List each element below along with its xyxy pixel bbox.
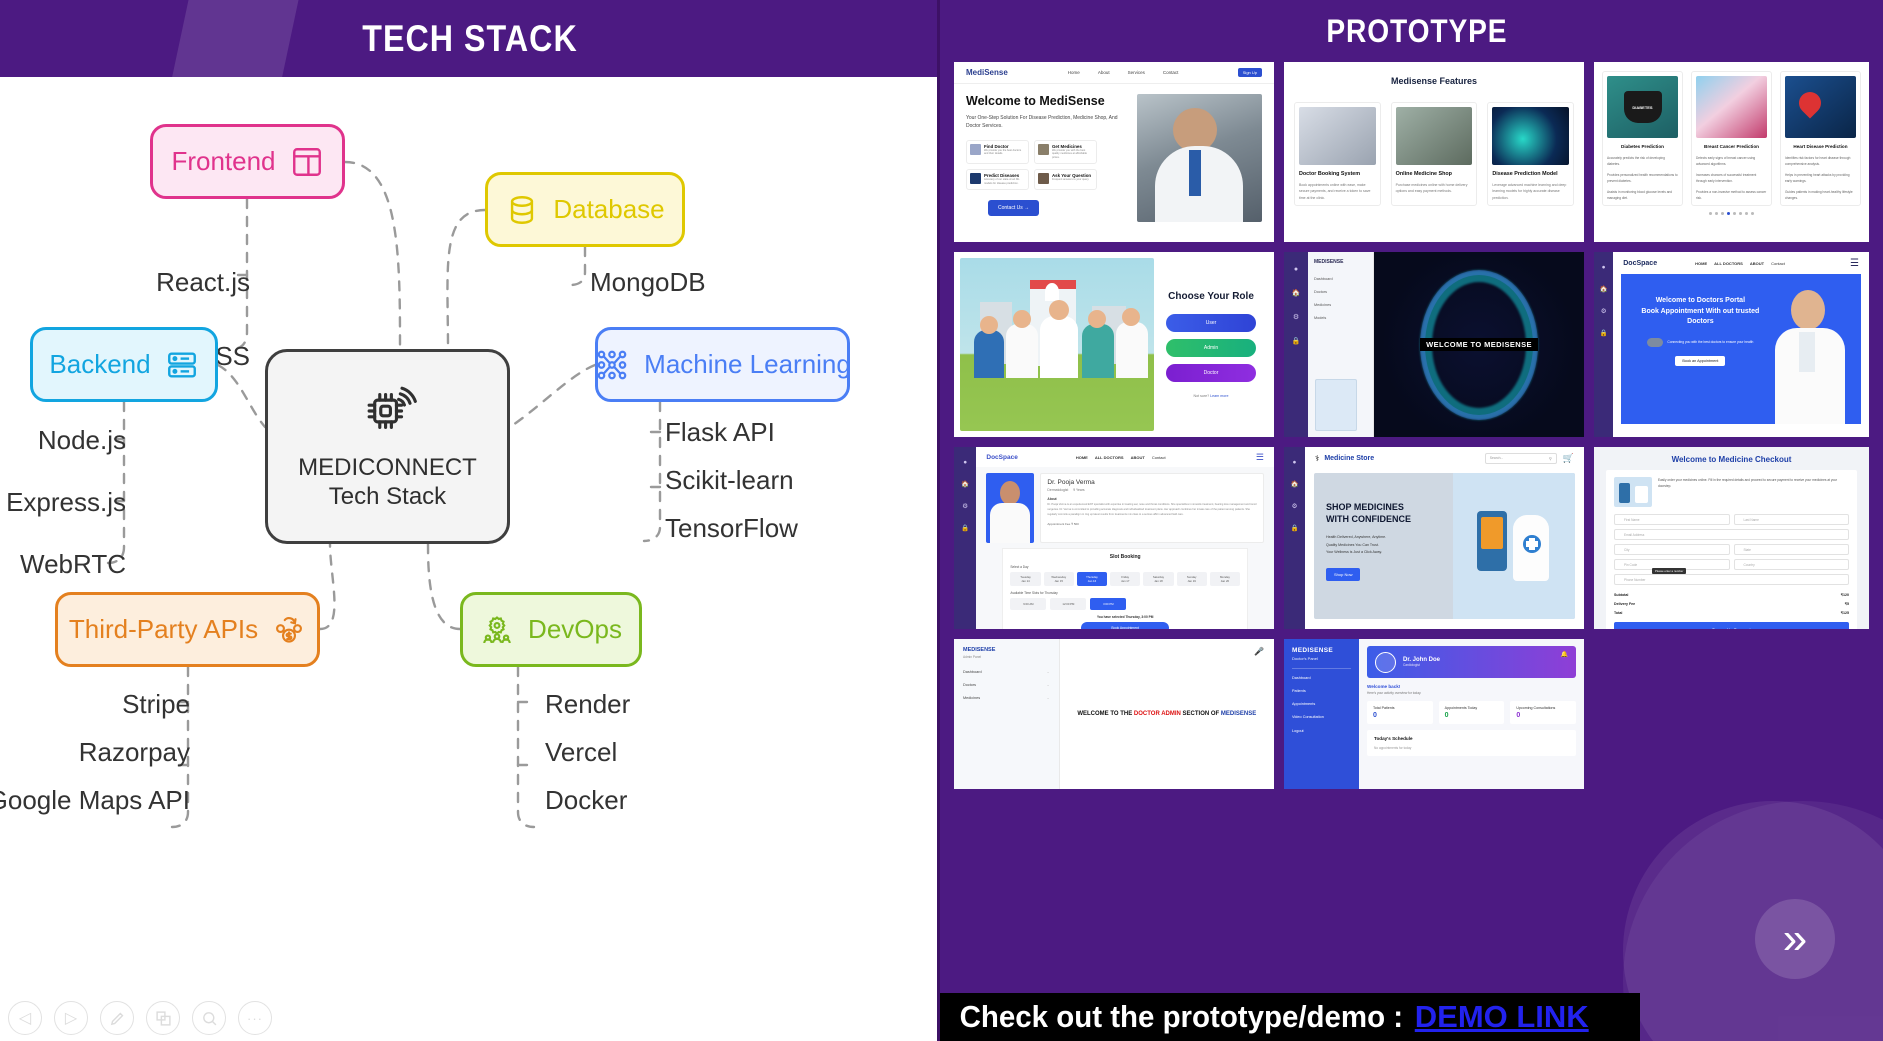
store-hero: SHOP MEDICINES WITH CONFIDENCE Health De… (1314, 473, 1575, 619)
layers-icon[interactable] (146, 1001, 180, 1035)
feature-card[interactable]: Doctor Booking System Book appointments … (1294, 102, 1381, 206)
store-bullet: Health Delivered, Anywhere, Anytime. (1326, 534, 1453, 542)
profile-doctor-name: Dr. Pooja Verma (1047, 479, 1257, 486)
doctor-panel-welcome: Welcome back! (1367, 684, 1576, 689)
admin-banner-suffix: MEDISENSE (1221, 711, 1256, 717)
feature-card-title: Online Medicine Shop (1396, 171, 1473, 177)
page-title: TECH STACK (61, 0, 879, 77)
admin-brand: MEDISENSE (963, 647, 1050, 653)
docspace-hero-line3: Doctors (1631, 317, 1769, 328)
docspace-doctor-image (1769, 284, 1855, 424)
doctor-panel-welcome-sub: Here's your activity overview for today. (1367, 691, 1576, 695)
slot-selector[interactable]: 9:00 AM 12:00 PM 3:00 PM (1010, 598, 1240, 610)
feature-card-image (1492, 107, 1569, 165)
leaf-tensorflow: TensorFlow (665, 513, 798, 544)
prediction-bullet: Increases chances of successful treatmen… (1696, 172, 1767, 185)
home-icon[interactable]: 🏠 (961, 480, 969, 488)
welcome-banner-text: WELCOME TO MEDISENSE (1420, 338, 1538, 351)
doctor-header-card: Dr. John Doe Cardiologist 🔔 (1367, 646, 1576, 678)
admin-banner-mid: SECTION OF (1181, 711, 1221, 717)
more-glyph: ··· (247, 1011, 263, 1026)
node-machine-learning-label: Machine Learning (644, 349, 851, 380)
prototype-title: PROTOTYPE (1326, 13, 1507, 50)
prediction-card-image (1696, 76, 1767, 138)
lock-icon[interactable]: 🔒 (1292, 337, 1301, 345)
prediction-card-image (1785, 76, 1856, 138)
shot-checkout[interactable]: Welcome to Medicine Checkout Easily orde… (1594, 447, 1869, 629)
country-field[interactable]: Country (1734, 559, 1850, 570)
docspace-hero-line2: Book Appointment With out trusted (1631, 307, 1769, 318)
summary-row: Total ₹125 (1614, 611, 1849, 615)
prediction-bullet: Guides patients in making heart-healthy … (1785, 189, 1856, 202)
landing-card[interactable]: Find Doctor We provide you the best doct… (966, 140, 1029, 165)
node-third-party-apis-label: Third-Party APIs (69, 614, 258, 645)
prediction-image-caption: DIABETES (1632, 105, 1652, 110)
doctor-panel-menu-video-consultation[interactable]: Video Consultation (1292, 715, 1351, 720)
chip-icon (359, 382, 417, 445)
node-backend[interactable]: Backend (30, 327, 218, 402)
store-bullet: Quality Medicines You Can Trust. (1326, 542, 1453, 550)
store-title-line1: SHOP MEDICINES (1326, 501, 1453, 513)
day-option[interactable]: Monday Jan 20 (1210, 572, 1240, 586)
admin-subtitle: Admin Panel (963, 655, 1050, 659)
landing-card-icon (970, 173, 981, 184)
stat-value: 0 (1373, 712, 1427, 719)
search-placeholder: Search... (1490, 456, 1504, 460)
docspace-hero: Welcome to Doctors Portal Book Appointme… (1621, 274, 1861, 424)
landing-nav-home[interactable]: Home (1068, 70, 1080, 75)
tech-stack-diagram: Frontend React.js Tailwind CSS Database (0, 77, 940, 977)
admin-sidebar: MEDISENSE Admin Panel Dashboard ⌄ Doctor… (954, 639, 1060, 789)
shot-doctor-panel[interactable]: MEDISENSE Doctor's Panel Dashboard Patie… (1284, 639, 1584, 789)
demo-link-bar: Check out the prototype/demo : DEMO LINK (940, 993, 1640, 1041)
summary-row: Delivery Fee ₹5 (1614, 602, 1849, 606)
leaf-razorpay: Razorpay (79, 737, 190, 768)
day-option-selected[interactable]: Thursday Jan 16 (1077, 572, 1107, 586)
node-devops[interactable]: DevOps (460, 592, 642, 667)
carousel-dots[interactable] (1602, 212, 1861, 215)
hamburger-menu-icon[interactable]: ☰ (1256, 452, 1264, 463)
shot-doctor-profile[interactable]: ● 🏠 ⚙ 🔒 DocSpace HOME ALL DOCTORS (954, 447, 1274, 629)
phone-validation-tooltip: Please enter a number (1652, 568, 1686, 574)
welcome-brand: MEDISENSE (1314, 259, 1367, 265)
slot-selection-note: You have selected Thursday, 3:00 PM (1010, 615, 1240, 619)
lock-icon[interactable]: 🔒 (1290, 524, 1298, 532)
user-icon[interactable]: ● (1293, 459, 1297, 466)
profile-specialty: Dermatologist (1047, 488, 1068, 492)
payment-exchange-icon (272, 613, 306, 647)
welcome-menu-doctors[interactable]: Doctors (1314, 290, 1367, 294)
day-option[interactable]: Sunday Jan 19 (1177, 572, 1207, 586)
shot-medicine-store[interactable]: ● 🏠 ⚙ 🔒 ⚕ Medicine Store Se (1284, 447, 1584, 629)
stat-card: Appointments Today 0 (1439, 701, 1505, 724)
play-glyph: ▷ (65, 1008, 77, 1028)
landing-hero-image (1137, 94, 1262, 222)
leaf-render: Render (545, 689, 630, 720)
last-name-field[interactable]: Last Name (1734, 514, 1850, 525)
checkout-intro: Easily order your medicines online. Fill… (1658, 477, 1849, 507)
landing-card[interactable]: Ask Your Question Frequent answers to yo… (1034, 169, 1097, 190)
prototype-row-1: MediSense Home About Services Contact Si… (954, 62, 1879, 242)
prototype-row-3: ● 🏠 ⚙ 🔒 DocSpace HOME ALL DOCTORS (954, 447, 1879, 629)
state-field[interactable]: State (1734, 544, 1850, 555)
center-node-title: MEDICONNECT (298, 453, 477, 482)
admin-main: 🎤 WELCOME TO THE DOCTOR ADMIN SECTION OF… (1060, 639, 1274, 789)
welcome-menu-medicines[interactable]: Medicines (1314, 303, 1367, 307)
stat-value: 0 (1445, 712, 1499, 719)
doctor-panel-doctor-role: Cardiologist (1403, 663, 1440, 667)
slide-root: TECH STACK (0, 0, 1883, 1041)
checkout-title: Welcome to Medicine Checkout (1606, 455, 1857, 464)
profile-about-text: Dr. Pooja Verma is an experienced ENT sp… (1047, 503, 1257, 517)
chevron-down-icon: ⌄ (1047, 696, 1050, 700)
day-selector[interactable]: Tuesday Jan 14 Wednesday Jan 15 Thursday (1010, 572, 1240, 586)
slots-label: Available Time Slots for Thursday (1010, 591, 1240, 595)
day-option[interactable]: Saturday Jan 18 (1143, 572, 1173, 586)
welcome-sidebar-illustration (1315, 379, 1357, 431)
feature-card[interactable]: Disease Prediction Model Leverage advanc… (1487, 102, 1574, 206)
prototype-panel: PROTOTYPE MediSense Home About Services (940, 0, 1883, 1041)
shot-admin-panel[interactable]: MEDISENSE Admin Panel Dashboard ⌄ Doctor… (954, 639, 1274, 789)
search-icon[interactable] (192, 1001, 226, 1035)
home-icon[interactable]: 🏠 (1290, 480, 1298, 488)
chevron-down-icon: ⌄ (1047, 670, 1050, 674)
landing-signup-button[interactable]: Sign Up (1238, 68, 1262, 77)
schedule-card: Today's Schedule No appointments for tod… (1367, 730, 1576, 756)
prediction-bullet: Provides personalized health recommendat… (1607, 172, 1678, 185)
landing-card-icon (1038, 173, 1049, 184)
node-frontend-label: Frontend (171, 146, 275, 177)
docspace-nav-about[interactable]: ABOUT (1750, 261, 1764, 266)
slot-booking-title: Slot Booking (1010, 554, 1240, 560)
shot-welcome-dark[interactable]: ● 🏠 ⚙ 🔒 MEDISENSE Dashboard Doctors Medi… (1284, 252, 1584, 437)
microphone-icon[interactable]: 🎤 (1254, 647, 1264, 656)
prototype-grid: MediSense Home About Services Contact Si… (954, 62, 1879, 799)
demo-link[interactable]: DEMO LINK (1415, 999, 1589, 1035)
store-rail: ● 🏠 ⚙ 🔒 (1284, 447, 1305, 629)
prototype-row-4: MEDISENSE Admin Panel Dashboard ⌄ Doctor… (954, 639, 1879, 789)
docspace-hero-line1: Welcome to Doctors Portal (1631, 296, 1769, 307)
city-field[interactable]: City (1614, 544, 1730, 555)
book-appointment-button[interactable]: Book Appointment (1081, 622, 1169, 629)
role-button-doctor[interactable]: Doctor (1166, 364, 1256, 382)
profile-nav-all-doctors[interactable]: ALL DOCTORS (1095, 455, 1124, 460)
slot-option[interactable]: 12:00 PM (1050, 598, 1086, 610)
avatar (1375, 652, 1396, 673)
docspace-brand: DocSpace (1623, 260, 1657, 267)
admin-menu-medicines[interactable]: Medicines ⌄ (963, 696, 1050, 700)
pharmacy-icon: ⚕ (1315, 454, 1319, 463)
shot-choose-role[interactable]: Choose Your Role User Admin Doctor Not s… (954, 252, 1274, 437)
landing-contact-button[interactable]: Contact Us → (988, 200, 1039, 216)
double-chevron-right-icon[interactable]: » (1755, 899, 1835, 979)
admin-menu-dashboard[interactable]: Dashboard ⌄ (963, 670, 1050, 674)
doctor-panel-menu-patients[interactable]: Patients (1292, 689, 1351, 693)
feature-card-image (1396, 107, 1473, 165)
leaf-expressjs: Express.js (6, 487, 126, 518)
docspace-nav-home[interactable]: HOME (1695, 261, 1707, 266)
day-option[interactable]: Friday Jan 17 (1110, 572, 1140, 586)
gear-icon[interactable]: ⚙ (1293, 313, 1299, 321)
leaf-nodejs: Node.js (38, 425, 126, 456)
admin-banner-prefix: WELCOME TO THE (1077, 711, 1134, 717)
landing-brand: MediSense (966, 68, 1008, 77)
search-icon[interactable]: ⚲ (1549, 456, 1552, 461)
first-name-field[interactable]: First Name (1614, 514, 1730, 525)
lock-icon[interactable]: 🔒 (1600, 329, 1608, 337)
prediction-bullet: Identifies risk factors for heart diseas… (1785, 155, 1856, 168)
profile-nav-contact[interactable]: Contact (1152, 455, 1166, 460)
features-title: Medisense Features (1294, 76, 1574, 86)
profile-fee-value: ₹ 500 (1071, 522, 1079, 526)
center-node-mediconnect[interactable]: MEDICONNECT Tech Stack (265, 349, 510, 544)
slot-option-selected[interactable]: 3:00 PM (1090, 598, 1126, 610)
prediction-bullet: Helps in preventing heart attacks by pro… (1785, 172, 1856, 185)
hamburger-menu-icon[interactable]: ☰ (1850, 258, 1859, 269)
role-illustration (960, 258, 1154, 431)
prediction-card[interactable]: Breast Cancer Prediction Detects early s… (1691, 71, 1772, 206)
slide-toolbar: ◁ ▷ ··· (8, 1001, 272, 1035)
center-node-subtitle: Tech Stack (298, 482, 477, 511)
home-icon[interactable]: 🏠 (1292, 289, 1301, 297)
profile-experience: 9 Years (1073, 488, 1084, 492)
node-frontend[interactable]: Frontend (150, 124, 345, 199)
node-machine-learning[interactable]: Machine Learning (595, 327, 850, 402)
landing-title: Welcome to MediSense (966, 94, 1127, 108)
tech-stack-header: TECH STACK (0, 0, 940, 77)
leaf-scikit-learn: Scikit-learn (665, 465, 794, 496)
gear-icon[interactable]: ⚙ (962, 502, 968, 510)
leaf-reactjs: React.js (156, 267, 250, 298)
devops-gear-people-icon (480, 613, 514, 647)
role-learn-more-link[interactable]: Learn more (1210, 394, 1228, 398)
node-backend-label: Backend (49, 349, 150, 380)
landing-card-icon (970, 144, 981, 155)
shop-now-button[interactable]: Shop Now (1326, 568, 1360, 581)
slot-option[interactable]: 9:00 AM (1010, 598, 1046, 610)
leaf-flask-api: Flask API (665, 417, 775, 448)
doctor-panel-brand: MEDISENSE (1292, 647, 1351, 654)
select-day-label: Select a Day (1010, 565, 1240, 569)
previous-glyph: ◁ (19, 1008, 31, 1028)
doctor-panel-menu-logout[interactable]: Logout (1292, 729, 1351, 733)
prediction-bullet: Detects early signs of breast cancer usi… (1696, 155, 1767, 168)
landing-nav-services[interactable]: Services (1128, 70, 1145, 75)
day-option[interactable]: Tuesday Jan 14 (1010, 572, 1040, 586)
welcome-rail: ● 🏠 ⚙ 🔒 (1284, 252, 1308, 437)
prediction-bullet: Accurately predicts the risk of developi… (1607, 155, 1678, 168)
shot-landing[interactable]: MediSense Home About Services Contact Si… (954, 62, 1274, 242)
feature-card-desc: Leverage advanced machine learning and d… (1492, 182, 1569, 201)
landing-card-desc: Accuracy of our state-of-art ML models f… (984, 178, 1025, 186)
server-icon (165, 348, 199, 382)
lock-icon[interactable]: 🔒 (961, 524, 969, 532)
prediction-bullet: Assists in monitoring blood glucose leve… (1607, 189, 1678, 202)
phone-number-field[interactable]: Phone Number (1614, 574, 1849, 585)
landing-card-desc: Frequent answers to your query. (1052, 178, 1091, 182)
node-database[interactable]: Database (485, 172, 685, 247)
corner-decoration-inner (1623, 801, 1883, 1041)
summary-row: Subtotal ₹120 (1614, 593, 1849, 597)
demo-label: Check out the prototype/demo : (960, 999, 1403, 1035)
user-icon[interactable]: ● (1602, 264, 1606, 271)
landing-nav-about[interactable]: About (1098, 70, 1110, 75)
role-button-user[interactable]: User (1166, 314, 1256, 332)
doctor-panel-sidebar: MEDISENSE Doctor's Panel Dashboard Patie… (1284, 639, 1359, 789)
leaf-docker: Docker (545, 785, 627, 816)
profile-about-label: About (1047, 497, 1257, 501)
role-footer-text: Not sure? (1194, 394, 1210, 398)
doctor-panel-menu-dashboard[interactable]: Dashboard (1292, 676, 1351, 680)
profile-nav-about[interactable]: ABOUT (1131, 455, 1145, 460)
landing-card-icon (1038, 144, 1049, 155)
doctor-panel-menu-appointments[interactable]: Appointments (1292, 702, 1351, 706)
node-devops-label: DevOps (528, 614, 622, 645)
schedule-empty-text: No appointments for today (1374, 746, 1569, 750)
play-icon[interactable]: ▷ (54, 1001, 88, 1035)
gear-icon[interactable]: ⚙ (1292, 502, 1298, 510)
docspace-nav-all-doctors[interactable]: ALL DOCTORS (1714, 261, 1743, 266)
shot-predictions[interactable]: DIABETES Diabetes Prediction Accurately … (1594, 62, 1869, 242)
profile-rail: ● 🏠 ⚙ 🔒 (954, 447, 976, 629)
store-hero-illustration (1453, 473, 1575, 619)
landing-card[interactable]: Predict Diseases Accuracy of our state-o… (966, 169, 1029, 190)
empty-grid-cell (1594, 639, 1869, 789)
stat-label: Upcoming Consultations (1516, 706, 1570, 710)
landing-nav-contact[interactable]: Contact (1163, 70, 1179, 75)
node-database-label: Database (553, 194, 664, 225)
shot-features[interactable]: Medisense Features Doctor Booking System… (1284, 62, 1584, 242)
profile-photo (986, 473, 1034, 543)
prediction-card[interactable]: DIABETES Diabetes Prediction Accurately … (1602, 71, 1683, 206)
role-button-admin[interactable]: Admin (1166, 339, 1256, 357)
prediction-card-title: Diabetes Prediction (1607, 144, 1678, 149)
store-brand: Medicine Store (1324, 455, 1374, 462)
stat-value: 0 (1516, 712, 1570, 719)
feature-card-title: Doctor Booking System (1299, 171, 1376, 177)
feature-card-image (1299, 107, 1376, 165)
docspace-book-button[interactable]: Book an Appointment (1675, 356, 1725, 366)
stat-label: Total Patients (1373, 706, 1427, 710)
store-bullet: Your Wellness is Just a Click Away. (1326, 549, 1453, 557)
pen-icon[interactable] (100, 1001, 134, 1035)
proceed-to-payment-button[interactable]: Proceed to Payment (1614, 622, 1849, 629)
docspace-avatars (1647, 338, 1663, 347)
day-option[interactable]: Wednesday Jan 15 (1044, 572, 1074, 586)
node-third-party-apis[interactable]: Third-Party APIs (55, 592, 320, 667)
prototype-header: PROTOTYPE (950, 0, 1883, 62)
previous-icon[interactable]: ◁ (8, 1001, 42, 1035)
welcome-hero: WELCOME TO MEDISENSE (1374, 252, 1584, 437)
checkout-illustration (1614, 477, 1652, 507)
chevron-down-icon: ⌄ (1047, 683, 1050, 687)
search-input[interactable]: Search... ⚲ (1485, 453, 1557, 464)
doctor-panel-subtitle: Doctor's Panel (1292, 656, 1351, 661)
home-icon[interactable]: 🏠 (1600, 285, 1608, 293)
database-icon (505, 193, 539, 227)
prototype-row-2: Choose Your Role User Admin Doctor Not s… (954, 252, 1879, 437)
welcome-menu-models[interactable]: Models (1314, 316, 1367, 320)
stat-label: Appointments Today (1445, 706, 1499, 710)
landing-card-desc: We provide you with the best quality med… (1052, 149, 1093, 161)
prediction-card-title: Breast Cancer Prediction (1696, 144, 1767, 149)
landing-card-desc: We provide you the best doctors and thei… (984, 149, 1025, 157)
leaf-google-maps-api: Google Maps API (0, 785, 190, 816)
profile-nav-home[interactable]: HOME (1076, 455, 1088, 460)
user-icon[interactable]: ● (1294, 266, 1298, 273)
feature-card-desc: Purchase medicines online with home deli… (1396, 182, 1473, 195)
gear-icon[interactable]: ⚙ (1601, 307, 1607, 315)
docspace-rail: ● 🏠 ⚙ 🔒 (1594, 252, 1613, 437)
admin-banner-highlight: DOCTOR ADMIN (1134, 711, 1181, 717)
welcome-menu-dashboard[interactable]: Dashboard (1314, 277, 1367, 281)
prediction-card-image: DIABETES (1607, 76, 1678, 138)
docspace-tagline: Connecting you with the best doctors to … (1667, 340, 1753, 344)
admin-menu-doctors[interactable]: Doctors ⌄ (963, 683, 1050, 687)
feature-card-desc: Book appointments online with ease, make… (1299, 182, 1376, 201)
feature-card[interactable]: Online Medicine Shop Purchase medicines … (1391, 102, 1478, 206)
landing-card[interactable]: Get Medicines We provide you with the be… (1034, 140, 1097, 165)
more-options-icon[interactable]: ··· (238, 1001, 272, 1035)
layout-icon (290, 145, 324, 179)
user-icon[interactable]: ● (963, 459, 967, 466)
schedule-title: Today's Schedule (1374, 736, 1569, 741)
profile-brand: DocSpace (986, 454, 1017, 461)
role-title: Choose Your Role (1168, 291, 1254, 304)
prediction-card-title: Heart Disease Prediction (1785, 144, 1856, 149)
leaf-vercel: Vercel (545, 737, 617, 768)
welcome-sidebar: MEDISENSE Dashboard Doctors Medicines Mo… (1308, 252, 1374, 437)
store-title-line2: WITH CONFIDENCE (1326, 513, 1453, 525)
tech-stack-panel: TECH STACK (0, 0, 940, 1041)
email-field[interactable]: Email Address (1614, 529, 1849, 540)
cart-icon[interactable]: 🛒 (1563, 453, 1574, 464)
profile-fee-label: Appointment Fee (1047, 522, 1070, 526)
leaf-mongodb: MongoDB (590, 267, 706, 298)
neural-net-icon (594, 347, 630, 383)
feature-card-title: Disease Prediction Model (1492, 171, 1569, 177)
prediction-bullet: Provides a non-invasive method to assess… (1696, 189, 1767, 202)
shot-docspace-home[interactable]: ● 🏠 ⚙ 🔒 DocSpace HOME ALL DOCTORS (1594, 252, 1869, 437)
docspace-nav-contact[interactable]: Contact (1771, 261, 1785, 266)
prediction-card[interactable]: Heart Disease Prediction Identifies risk… (1780, 71, 1861, 206)
bell-icon[interactable]: 🔔 (1561, 651, 1568, 658)
leaf-stripe: Stripe (122, 689, 190, 720)
landing-subtitle: Your One-Step Solution For Disease Predi… (966, 115, 1127, 131)
leaf-webrtc: WebRTC (20, 549, 126, 580)
stat-card: Total Patients 0 (1367, 701, 1433, 724)
stat-card: Upcoming Consultations 0 (1510, 701, 1576, 724)
